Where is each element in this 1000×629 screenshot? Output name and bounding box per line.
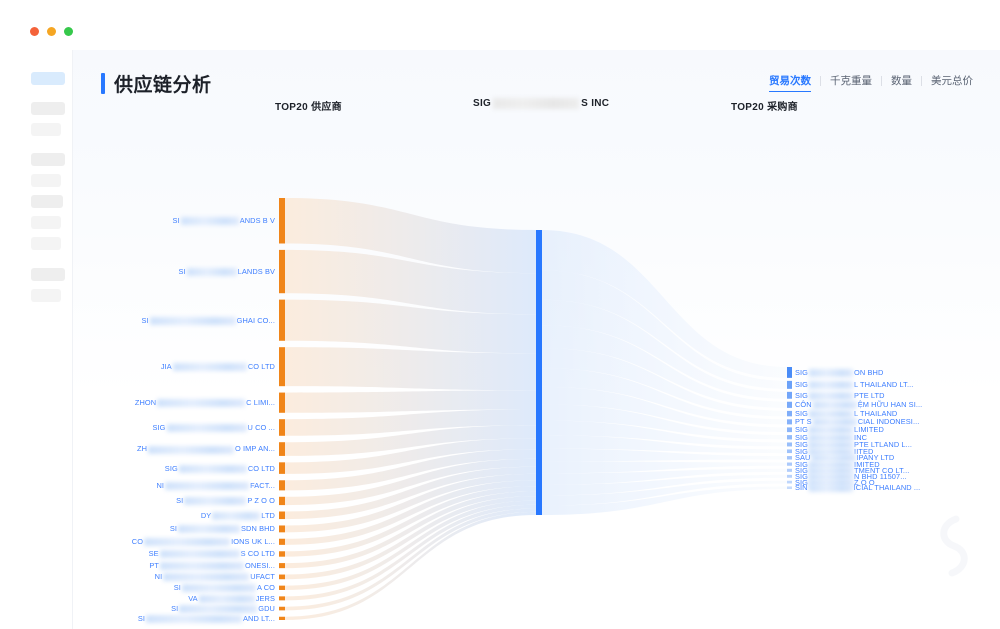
page-title-wrap: 供应链分析 [101, 70, 212, 97]
sankey-node-buyer-15[interactable] [787, 486, 792, 489]
sankey-node-buyer-7[interactable] [787, 435, 792, 439]
label-prefix: VA [188, 594, 198, 603]
label-redaction [148, 446, 234, 454]
label-prefix: PT [149, 561, 159, 570]
sankey-node-buyer-12[interactable] [787, 469, 792, 472]
sankey-label-buyer-3[interactable]: CÔNỆM HỮU HAN SI... [795, 400, 922, 409]
tab-2[interactable]: 数量 [882, 73, 921, 88]
sankey-node-supplier-9[interactable] [279, 497, 285, 505]
label-suffix: CO LTD [248, 464, 275, 473]
sankey-node-supplier-16[interactable] [279, 586, 285, 590]
sankey-node-supplier-3[interactable] [279, 347, 285, 386]
sankey-node-buyer-8[interactable] [787, 442, 792, 446]
sankey-node-supplier-12[interactable] [279, 539, 285, 545]
sidebar-item-8[interactable] [31, 268, 65, 281]
sankey-label-supplier-5[interactable]: SIGU CO ... [152, 423, 275, 432]
column-header-buyers: TOP20 采购商 [731, 98, 798, 113]
label-prefix: SI [171, 604, 178, 613]
sankey-node-supplier-19[interactable] [279, 617, 285, 620]
sankey-node-buyer-4[interactable] [787, 411, 792, 416]
label-prefix: SI [174, 583, 181, 592]
sankey-link-supplier-3[interactable] [285, 347, 536, 390]
metric-tabs[interactable]: 贸易次数千克重量数量美元总价 [760, 73, 982, 88]
sankey-label-supplier-11[interactable]: SISDN BHD [170, 524, 275, 533]
sidebar-item-7[interactable] [31, 237, 61, 250]
sankey-label-supplier-6[interactable]: ZHO IMP AN... [137, 444, 275, 453]
sidebar-item-4[interactable] [31, 174, 61, 187]
label-prefix: SI [138, 614, 145, 623]
label-prefix: SI [176, 496, 183, 505]
label-suffix: L THAILAND LT... [854, 380, 913, 389]
sidebar-item-9[interactable] [31, 289, 61, 302]
label-redaction [160, 562, 244, 570]
label-redaction [157, 399, 245, 407]
sankey-node-buyer-6[interactable] [787, 427, 792, 432]
label-suffix: AND LT... [243, 614, 275, 623]
label-prefix: ZH [137, 444, 147, 453]
label-redaction [160, 550, 240, 558]
label-prefix: DY [201, 511, 211, 520]
sankey-label-supplier-13[interactable]: SES CO LTD [149, 549, 275, 558]
sidebar-item-3[interactable] [31, 153, 65, 166]
label-redaction [144, 538, 230, 546]
maximize-dot[interactable] [64, 27, 73, 36]
sankey-node-buyer-1[interactable] [787, 381, 792, 389]
label-suffix: ICIAL THAILAND ... [854, 483, 921, 492]
label-prefix: SIG [152, 423, 165, 432]
label-suffix: IONS UK L... [231, 537, 275, 546]
sankey-label-supplier-17[interactable]: VAJERS [188, 594, 275, 603]
label-prefix: SIN [795, 483, 808, 492]
sankey-label-supplier-19[interactable]: SIAND LT... [138, 614, 275, 623]
label-prefix: SI [170, 524, 177, 533]
tab-1[interactable]: 千克重量 [821, 73, 881, 88]
sankey-node-buyer-14[interactable] [787, 481, 792, 484]
label-redaction [809, 381, 853, 389]
sankey-node-supplier-7[interactable] [279, 462, 285, 474]
label-redaction [173, 363, 247, 371]
label-suffix: ỆM HỮU HAN SI... [858, 400, 923, 409]
sankey-node-supplier-8[interactable] [279, 480, 285, 490]
label-prefix: SI [141, 316, 148, 325]
sankey-link-supplier-4[interactable] [285, 390, 536, 412]
label-suffix: FACT... [250, 481, 275, 490]
label-redaction [809, 392, 853, 400]
label-prefix: NI [156, 481, 164, 490]
label-redaction [182, 584, 256, 592]
label-redaction [184, 497, 246, 505]
sankey-node-buyer-13[interactable] [787, 475, 792, 478]
label-prefix: SE [149, 549, 159, 558]
label-redaction [212, 512, 260, 520]
app-root: 供应链分析 贸易次数千克重量数量美元总价 TOP20 供应商 SIGS INC … [0, 0, 1000, 629]
sidebar [0, 50, 72, 629]
sankey-node-supplier-18[interactable] [279, 607, 285, 611]
label-redaction [165, 482, 249, 490]
sankey-node-buyer-10[interactable] [787, 456, 792, 459]
page-title: 供应链分析 [114, 70, 212, 97]
sankey-node-buyer-9[interactable] [787, 449, 792, 453]
sankey-node-supplier-6[interactable] [279, 442, 285, 456]
label-redaction [809, 484, 853, 492]
label-prefix: SIG [165, 464, 178, 473]
sankey-label-supplier-1[interactable]: SILANDS BV [178, 267, 275, 276]
label-prefix: SIG [795, 391, 808, 400]
label-redaction [178, 525, 240, 533]
sankey-node-supplier-14[interactable] [279, 563, 285, 568]
sankey-label-supplier-9[interactable]: SIP Z O O [176, 496, 275, 505]
sankey-label-supplier-12[interactable]: COIONS UK L... [132, 537, 275, 546]
label-redaction [179, 605, 257, 613]
sankey-node-supplier-4[interactable] [279, 393, 285, 413]
tab-3[interactable]: 美元总价 [922, 73, 982, 88]
label-prefix: CÔN [795, 400, 812, 409]
sankey-node-supplier-1[interactable] [279, 250, 285, 293]
sankey-node-buyer-5[interactable] [787, 419, 792, 424]
label-redaction [146, 615, 242, 623]
sankey-node-supplier-5[interactable] [279, 419, 285, 436]
label-suffix: JERS [256, 594, 275, 603]
label-redaction [199, 595, 255, 603]
label-suffix: GHAI CO... [237, 316, 275, 325]
sankey-label-supplier-10[interactable]: DYLTD [201, 511, 275, 520]
column-header-focus: SIGS INC [473, 98, 609, 109]
focus-redaction [493, 98, 579, 109]
sankey-label-supplier-16[interactable]: SIA CO [174, 583, 275, 592]
focus-prefix: SIG [473, 98, 491, 109]
sankey-node-supplier-11[interactable] [279, 525, 285, 532]
sidebar-item-6[interactable] [31, 216, 61, 229]
sidebar-item-5[interactable] [31, 195, 63, 208]
sankey-node-buyer-11[interactable] [787, 463, 792, 466]
label-redaction [150, 317, 236, 325]
sankey-label-supplier-7[interactable]: SIGCO LTD [165, 464, 275, 473]
label-prefix: ZHON [135, 398, 156, 407]
sidebar-item-2[interactable] [31, 123, 61, 136]
sidebar-item-0[interactable] [31, 72, 65, 85]
sankey-label-supplier-0[interactable]: SIANDS B V [173, 216, 276, 225]
label-prefix: SIG [795, 368, 808, 377]
label-suffix: GDU [258, 604, 275, 613]
label-prefix: SI [178, 267, 185, 276]
sidebar-item-1[interactable] [31, 102, 65, 115]
title-accent-bar [101, 73, 105, 94]
sankey-chart: SIANDS B VSILANDS BVSIGHAI CO...JIACO LT… [73, 120, 1000, 629]
sankey-label-supplier-18[interactable]: SIGDU [171, 604, 275, 613]
sankey-label-supplier-8[interactable]: NIFACT... [156, 481, 275, 490]
sankey-node-center[interactable] [536, 230, 542, 515]
label-suffix: LANDS BV [238, 267, 275, 276]
sankey-label-buyer-1[interactable]: SIGL THAILAND LT... [795, 380, 913, 389]
focus-suffix: S INC [581, 98, 609, 109]
sankey-label-supplier-15[interactable]: NIUFACT [155, 572, 275, 581]
label-suffix: A CO [257, 583, 275, 592]
label-suffix: LTD [261, 511, 275, 520]
sankey-label-buyer-0[interactable]: SIGON BHD [795, 368, 883, 377]
sankey-node-supplier-15[interactable] [279, 575, 285, 580]
sankey-node-supplier-17[interactable] [279, 596, 285, 600]
window-controls [30, 27, 73, 36]
label-suffix: ONESI... [245, 561, 275, 570]
label-prefix: SIG [795, 380, 808, 389]
label-prefix: JIA [161, 362, 172, 371]
sankey-node-buyer-2[interactable] [787, 392, 792, 399]
sankey-node-buyer-3[interactable] [787, 402, 792, 408]
sankey-label-supplier-3[interactable]: JIACO LTD [161, 362, 275, 371]
label-suffix: SDN BHD [241, 524, 275, 533]
label-suffix: S CO LTD [241, 549, 275, 558]
label-suffix: U CO ... [248, 423, 276, 432]
column-header-suppliers: TOP20 供应商 [275, 98, 342, 113]
sankey-label-supplier-2[interactable]: SIGHAI CO... [141, 316, 275, 325]
label-suffix: O IMP AN... [235, 444, 275, 453]
label-suffix: PTE LTD [854, 391, 885, 400]
label-redaction [163, 573, 249, 581]
label-redaction [167, 424, 247, 432]
label-redaction [179, 465, 247, 473]
watermark-logo [926, 515, 982, 577]
sankey-node-buyer-0[interactable] [787, 367, 792, 378]
label-redaction [809, 369, 853, 377]
label-redaction [187, 268, 237, 276]
sankey-label-supplier-14[interactable]: PTONESI... [149, 561, 275, 570]
label-suffix: ON BHD [854, 368, 883, 377]
label-prefix: CO [132, 537, 143, 546]
sankey-label-buyer-2[interactable]: SIGPTE LTD [795, 391, 885, 400]
label-suffix: UFACT [250, 572, 275, 581]
label-prefix: NI [155, 572, 163, 581]
sankey-node-supplier-13[interactable] [279, 551, 285, 556]
sankey-node-supplier-0[interactable] [279, 198, 285, 243]
close-dot[interactable] [30, 27, 39, 36]
tab-0-active[interactable]: 贸易次数 [760, 73, 820, 88]
sankey-label-supplier-4[interactable]: ZHONC LIMI... [135, 398, 275, 407]
label-redaction [181, 217, 239, 225]
sankey-node-supplier-10[interactable] [279, 511, 285, 519]
label-suffix: CO LTD [248, 362, 275, 371]
sankey-node-supplier-2[interactable] [279, 300, 285, 341]
label-suffix: P Z O O [247, 496, 275, 505]
main-panel: 供应链分析 贸易次数千克重量数量美元总价 TOP20 供应商 SIGS INC … [72, 50, 1000, 629]
minimize-dot[interactable] [47, 27, 56, 36]
label-suffix: ANDS B V [240, 216, 275, 225]
label-suffix: C LIMI... [246, 398, 275, 407]
label-prefix: SI [173, 216, 180, 225]
sankey-label-buyer-15[interactable]: SINICIAL THAILAND ... [795, 483, 920, 492]
